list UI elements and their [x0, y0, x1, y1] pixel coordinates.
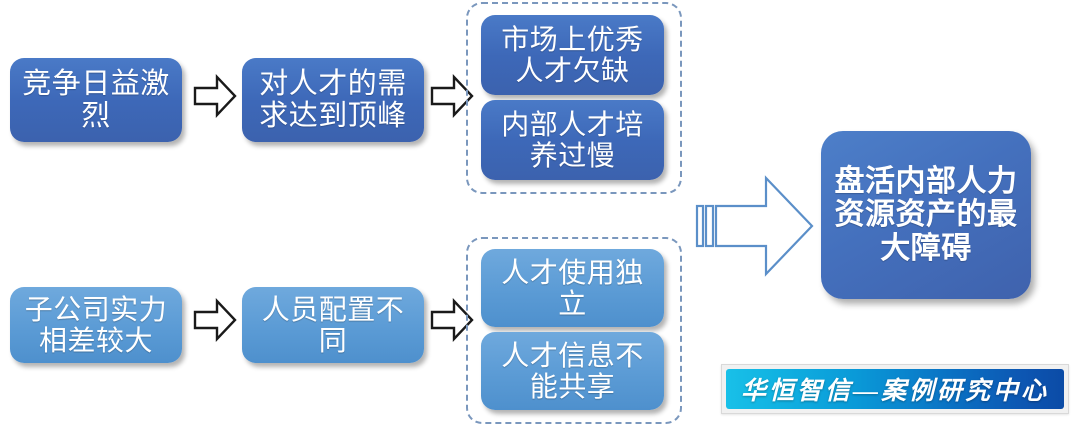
- process-box-talent-info-not-shared[interactable]: 人才信息不能共享: [481, 332, 664, 410]
- footer-banner-label: 华恒智信—案例研究中心: [741, 371, 1049, 407]
- diagram-canvas: 竞争日益激烈 对人才的需求达到顶峰 市场上优秀人才欠缺 内部人才培养过慢 子公司…: [0, 0, 1074, 429]
- process-box-slow-internal-training[interactable]: 内部人才培养过慢: [481, 100, 664, 180]
- footer-banner-inner: 华恒智信—案例研究中心: [726, 369, 1064, 409]
- process-box-staffing-differs[interactable]: 人员配置不同: [242, 287, 424, 363]
- process-box-competition[interactable]: 竞争日益激烈: [10, 58, 182, 142]
- conclusion-box[interactable]: 盘活内部人力资源资产的最大障碍: [821, 131, 1031, 299]
- arrow-right-icon-1: [193, 72, 237, 120]
- process-box-subsidiary-strength-gap[interactable]: 子公司实力相差较大: [10, 287, 182, 363]
- process-box-talent-demand[interactable]: 对人才的需求达到顶峰: [242, 58, 424, 142]
- footer-banner: 华恒智信—案例研究中心: [721, 364, 1069, 414]
- process-box-isolated-talent-use[interactable]: 人才使用独立: [481, 249, 664, 327]
- arrow-right-icon-3: [193, 296, 237, 344]
- process-box-market-talent-shortage[interactable]: 市场上优秀人才欠缺: [481, 15, 664, 95]
- striped-right-arrow-icon: [694, 174, 816, 278]
